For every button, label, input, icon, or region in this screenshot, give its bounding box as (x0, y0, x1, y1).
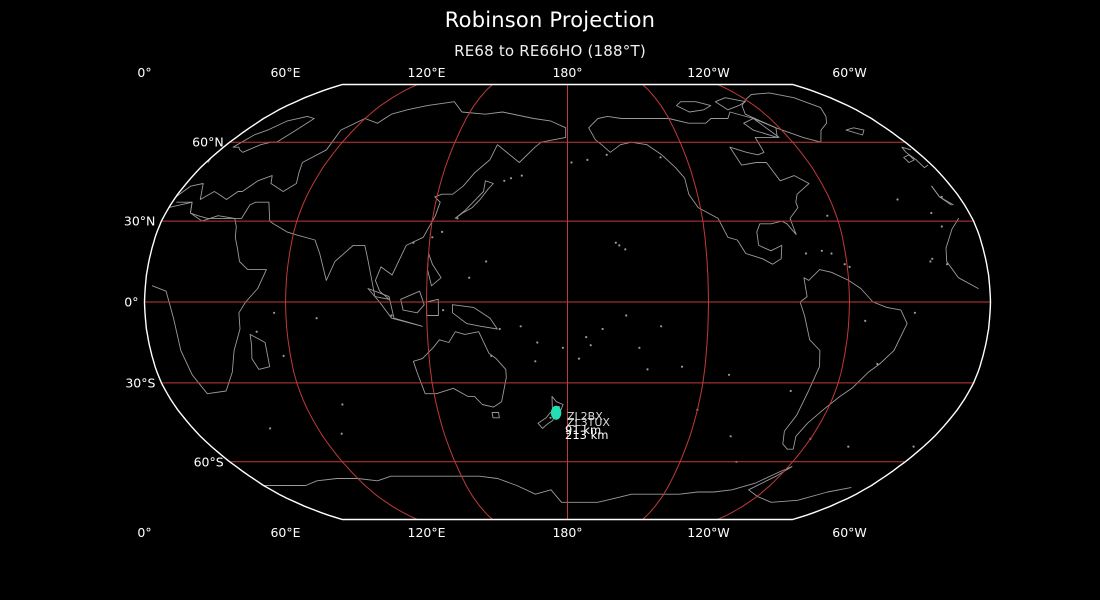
island-dot (273, 312, 275, 314)
island-dot (442, 309, 444, 311)
island-dot (913, 446, 915, 448)
island-dot (638, 347, 640, 349)
island-dot (390, 314, 392, 316)
island-dot (864, 320, 866, 322)
island-dot (316, 317, 318, 319)
island-dot (830, 252, 832, 254)
island-dot (844, 263, 846, 265)
island-dot (896, 198, 898, 200)
island-dot (590, 344, 592, 346)
island-dot (929, 260, 931, 262)
island-dot (585, 336, 587, 338)
island-dot (503, 180, 505, 182)
island-dot (728, 374, 730, 376)
map-graticule-and-land (145, 85, 991, 520)
island-dot (625, 314, 627, 316)
island-dot (549, 417, 551, 419)
lat-tick: 30°S (125, 375, 155, 390)
island-dot (914, 312, 916, 314)
island-dot (681, 366, 683, 368)
lon-tick-bottom: 60°E (270, 525, 300, 540)
lat-tick: 60°S (194, 454, 224, 469)
island-dot (510, 177, 512, 179)
island-dot (341, 403, 343, 405)
station-markers[interactable] (551, 406, 561, 420)
lon-tick-bottom: 180° (552, 525, 582, 540)
island-dot (456, 217, 458, 219)
island-dot (256, 331, 258, 333)
island-dot (562, 347, 564, 349)
island-dot (490, 355, 492, 357)
island-dot (790, 390, 792, 392)
lat-tick: 30°N (124, 214, 156, 229)
lat-tick: 60°N (192, 135, 224, 150)
island-dot (521, 175, 523, 177)
island-dot (659, 156, 661, 158)
island-dot (826, 215, 828, 217)
island-dot (805, 252, 807, 254)
lon-tick-top: 60°W (832, 65, 867, 80)
island-dot (606, 154, 608, 156)
lon-tick-bottom: 0° (137, 525, 151, 540)
island-dot (931, 258, 933, 260)
island-dot (578, 358, 580, 360)
island-dot (602, 328, 604, 330)
island-dot (730, 435, 732, 437)
island-dot (431, 236, 433, 238)
island-dot (441, 231, 443, 233)
island-dot (941, 225, 943, 227)
island-dot (618, 244, 620, 246)
station-distance-label: 213 km (565, 428, 608, 442)
lon-tick-top: 120°W (687, 65, 729, 80)
island-dot (520, 325, 522, 327)
island-dot (341, 433, 343, 435)
lon-tick-top: 180° (552, 65, 582, 80)
island-dot (412, 242, 414, 244)
island-dot (821, 250, 823, 252)
island-dot (930, 212, 932, 214)
island-dot (468, 277, 470, 279)
island-dot (615, 242, 617, 244)
island-dot (570, 161, 572, 163)
island-dot (946, 263, 948, 265)
island-dot (536, 341, 538, 343)
island-dot (847, 446, 849, 448)
island-dot (876, 363, 878, 365)
lon-tick-bottom: 120°W (687, 525, 729, 540)
island-dot (624, 248, 626, 250)
island-dot (485, 260, 487, 262)
map-figure: Robinson Projection RE68 to RE66HO (188°… (0, 0, 1100, 600)
island-dot (660, 325, 662, 327)
island-dot (646, 368, 648, 370)
island-dot (941, 196, 943, 198)
island-dot (849, 266, 851, 268)
island-dot (283, 355, 285, 357)
lon-tick-top: 0° (137, 65, 151, 80)
island-dot (269, 427, 271, 429)
island-dot (534, 360, 536, 362)
lon-tick-bottom: 60°W (832, 525, 867, 540)
island-dot (586, 159, 588, 161)
lon-tick-top: 120°E (407, 65, 445, 80)
lon-tick-top: 60°E (270, 65, 300, 80)
lat-tick: 0° (124, 295, 138, 310)
lon-tick-bottom: 120°E (407, 525, 445, 540)
station-marker[interactable] (551, 406, 561, 420)
island-dot (499, 328, 501, 330)
robinson-map-canvas (0, 0, 1100, 600)
